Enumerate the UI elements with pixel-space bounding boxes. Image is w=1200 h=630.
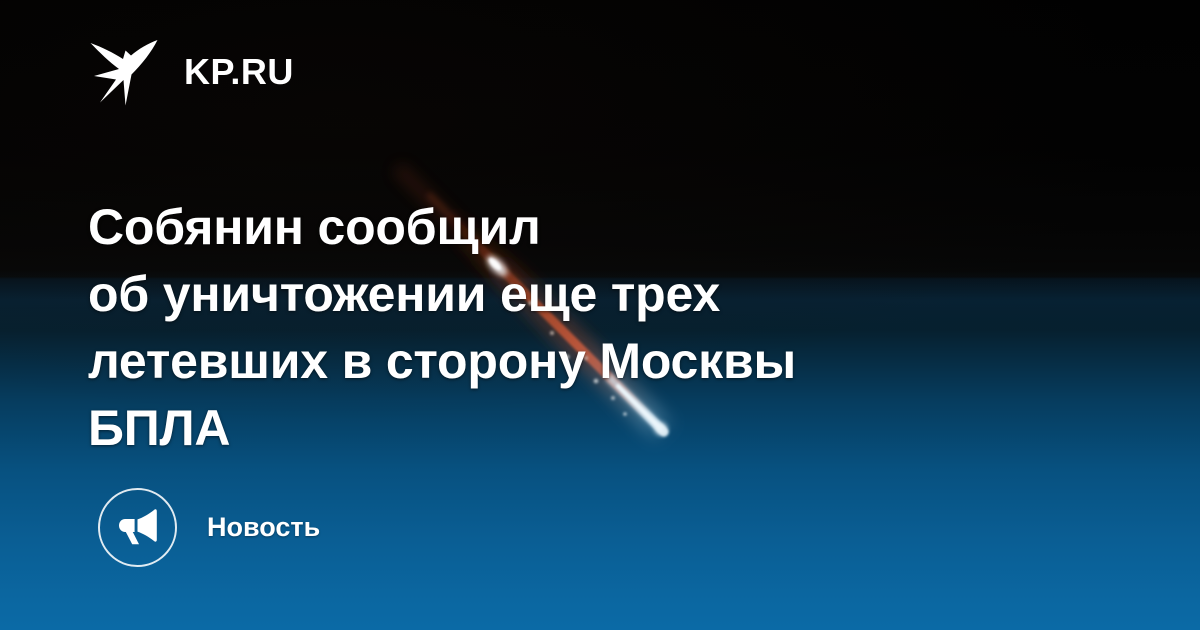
headline-line-2: об уничтожении еще трех — [88, 261, 988, 328]
headline-line-4: БПЛА — [88, 395, 988, 462]
badge-label: Новость — [207, 514, 320, 541]
headline: Собянин сообщил об уничтожении еще трех … — [88, 194, 988, 462]
megaphone-icon — [116, 507, 160, 547]
headline-line-3: летевших в сторону Москвы — [88, 328, 988, 395]
category-badge[interactable]: Новость — [98, 487, 320, 567]
headline-line-1: Собянин сообщил — [88, 194, 988, 261]
brand-name: KP.RU — [184, 54, 294, 90]
badge-icon-circle — [98, 488, 177, 567]
news-share-card: KP.RU Собянин сообщил об уничтожении еще… — [0, 0, 1200, 630]
brand-logo[interactable]: KP.RU — [88, 38, 294, 106]
swallow-bird-icon — [88, 38, 160, 106]
